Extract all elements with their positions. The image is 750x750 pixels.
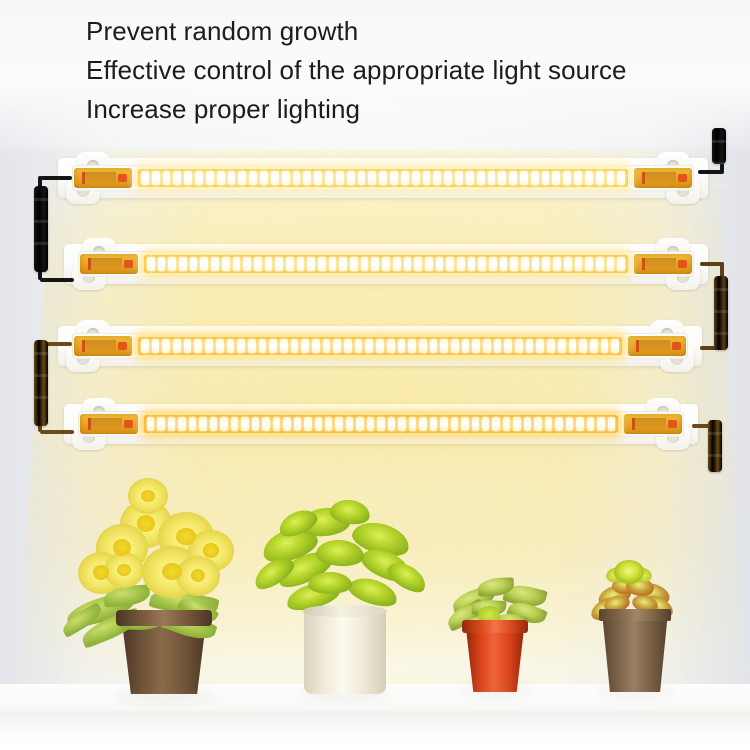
led-chip: [524, 417, 531, 431]
led-chip: [199, 417, 206, 431]
led-chip: [367, 417, 374, 431]
flower-center: [141, 490, 155, 502]
flower-center: [137, 515, 155, 531]
led-chip: [333, 339, 341, 353]
led-chip: [430, 417, 437, 431]
led-chip: [412, 171, 420, 185]
led-chip: [262, 417, 269, 431]
led-chip: [294, 417, 301, 431]
led-chip: [531, 171, 539, 185]
flower-center: [93, 565, 109, 579]
led-chip: [414, 257, 422, 271]
plant-yellow-flowers-pot-rim: [116, 610, 212, 626]
led-chip: [468, 257, 476, 271]
led-chip: [576, 417, 583, 431]
driver-indicator-dot: [124, 260, 133, 268]
led-chip: [194, 339, 202, 353]
led-chip: [409, 417, 416, 431]
led-chip: [377, 417, 384, 431]
led-chip: [451, 339, 459, 353]
led-chip: [314, 171, 322, 185]
plant-green-fern-pot-rim: [303, 605, 387, 617]
cable-left-top: [40, 176, 72, 180]
led-chip: [178, 417, 185, 431]
led-chip: [489, 257, 497, 271]
led-chip: [252, 417, 259, 431]
driver-print: [632, 418, 666, 430]
plant-shadow: [458, 684, 534, 698]
led-chip: [254, 257, 262, 271]
led-chip: [228, 171, 236, 185]
led-chip: [368, 171, 376, 185]
led-chip: [500, 257, 508, 271]
flower-center: [162, 563, 182, 581]
led-chip: [388, 417, 395, 431]
led-chip: [190, 257, 198, 271]
led-chip: [211, 257, 219, 271]
connector-right-bottom: [708, 420, 722, 472]
driver-module-left: [80, 254, 138, 274]
driver-module-right: [628, 336, 686, 356]
led-chip: [488, 171, 496, 185]
led-chip: [608, 417, 615, 431]
connector-band: [34, 374, 48, 377]
led-chip: [574, 171, 582, 185]
led-chip: [503, 417, 510, 431]
led-chip: [566, 417, 573, 431]
driver-print: [88, 258, 122, 270]
headline-2: Effective control of the appropriate lig…: [86, 51, 746, 90]
led-chip: [365, 339, 373, 353]
led-chip: [227, 339, 235, 353]
led-chip: [436, 257, 444, 271]
led-chip: [430, 339, 438, 353]
led-chip: [189, 417, 196, 431]
led-chip-strip: [138, 169, 628, 187]
led-chip: [515, 339, 523, 353]
led-chip: [260, 171, 268, 185]
headline-group: Prevent random growth Effective control …: [86, 12, 746, 129]
led-chip: [173, 171, 181, 185]
led-chip: [179, 257, 187, 271]
led-chip: [371, 257, 379, 271]
led-chip: [617, 171, 625, 185]
table-front: [0, 714, 750, 750]
led-chip: [425, 257, 433, 271]
led-chip: [243, 257, 251, 271]
led-chip: [440, 339, 448, 353]
led-chip: [504, 339, 512, 353]
cable-left-mid: [40, 278, 74, 282]
plant-green-fern-pot: [304, 608, 386, 694]
connector-band: [714, 288, 728, 291]
led-chip: [259, 339, 267, 353]
led-chip: [393, 257, 401, 271]
led-chip: [513, 417, 520, 431]
led-chip: [472, 417, 479, 431]
led-chip: [339, 257, 347, 271]
led-chip: [611, 339, 619, 353]
led-chip: [168, 417, 175, 431]
led-chip: [596, 257, 604, 271]
driver-print: [642, 258, 676, 270]
connector-band: [34, 352, 48, 355]
led-chip: [466, 171, 474, 185]
led-chip: [147, 417, 154, 431]
led-chip: [200, 257, 208, 271]
led-chip: [269, 339, 277, 353]
led-chip: [147, 257, 155, 271]
connector-band: [34, 198, 48, 201]
led-chip: [152, 171, 160, 185]
connector-right-middle: [714, 276, 728, 350]
led-chip: [350, 257, 358, 271]
led-chip: [206, 171, 214, 185]
led-chip: [293, 171, 301, 185]
led-chip: [238, 171, 246, 185]
led-chip: [283, 417, 290, 431]
led-chip: [607, 171, 615, 185]
led-chip: [141, 171, 149, 185]
led-chip: [545, 417, 552, 431]
led-chip: [521, 257, 529, 271]
led-chip: [329, 257, 337, 271]
led-chip: [323, 339, 331, 353]
led-chip: [542, 257, 550, 271]
driver-indicator-dot: [124, 420, 133, 428]
led-chip: [510, 257, 518, 271]
connector-right-top: [712, 128, 726, 164]
led-chip: [307, 257, 315, 271]
led-chip: [162, 339, 170, 353]
led-chip: [173, 339, 181, 353]
led-chip: [304, 417, 311, 431]
led-chip: [520, 171, 528, 185]
led-chip: [286, 257, 294, 271]
led-chip: [585, 257, 593, 271]
led-chip: [455, 171, 463, 185]
led-chip: [141, 339, 149, 353]
driver-indicator-dot: [668, 420, 677, 428]
led-chip: [555, 417, 562, 431]
led-chip: [280, 339, 288, 353]
led-chip: [217, 171, 225, 185]
led-chip: [492, 417, 499, 431]
led-chip: [617, 257, 625, 271]
led-chip: [419, 339, 427, 353]
led-chip: [205, 339, 213, 353]
led-chip: [237, 339, 245, 353]
driver-print: [82, 172, 116, 184]
led-chip: [390, 171, 398, 185]
connector-band: [34, 242, 48, 245]
led-chip: [303, 171, 311, 185]
driver-indicator-dot: [678, 174, 687, 182]
led-chip: [158, 257, 166, 271]
led-chip: [184, 171, 192, 185]
connector-band: [708, 476, 722, 479]
led-chip: [163, 171, 171, 185]
led-chip: [564, 257, 572, 271]
fern-frond: [308, 572, 352, 594]
headline-3: Increase proper lighting: [86, 90, 746, 129]
led-chip: [461, 417, 468, 431]
led-chip: [312, 339, 320, 353]
led-chip: [408, 339, 416, 353]
led-chip: [446, 257, 454, 271]
led-chip: [401, 171, 409, 185]
led-chip: [547, 339, 555, 353]
led-chip: [457, 257, 465, 271]
plant-small-terracotta-pot-rim: [462, 620, 528, 633]
led-chip: [355, 339, 363, 353]
flower-center: [176, 528, 195, 545]
led-chip: [265, 257, 273, 271]
led-chip: [590, 339, 598, 353]
led-chip: [423, 171, 431, 185]
driver-module-left: [74, 168, 132, 188]
led-chip: [382, 257, 390, 271]
led-chip: [336, 171, 344, 185]
led-chip-strip: [144, 415, 618, 433]
led-bar-1: [58, 152, 708, 204]
connector-band: [34, 220, 48, 223]
led-chip: [597, 417, 604, 431]
connector-band: [34, 396, 48, 399]
led-chip: [440, 417, 447, 431]
connector-band: [712, 162, 726, 165]
driver-module-right: [624, 414, 682, 434]
flower-center: [113, 539, 131, 555]
led-chip: [315, 417, 322, 431]
led-chip: [297, 257, 305, 271]
led-chip: [168, 257, 176, 271]
led-bar-3: [58, 320, 702, 372]
led-chip: [361, 257, 369, 271]
led-chip: [398, 417, 405, 431]
led-chip: [216, 339, 224, 353]
connector-band: [708, 454, 722, 457]
led-chip: [210, 417, 217, 431]
led-chip: [477, 171, 485, 185]
led-chip: [346, 417, 353, 431]
led-chip: [587, 417, 594, 431]
led-chip: [482, 417, 489, 431]
led-chip: [184, 339, 192, 353]
led-chip: [347, 171, 355, 185]
driver-module-left: [80, 414, 138, 434]
led-chip: [335, 417, 342, 431]
connector-band: [708, 432, 722, 435]
product-image-scene: Prevent random growth Effective control …: [0, 0, 750, 750]
led-chip: [157, 417, 164, 431]
led-chip: [509, 171, 517, 185]
led-bar-2: [64, 238, 708, 290]
led-chip: [249, 171, 257, 185]
led-chip: [379, 171, 387, 185]
led-chip: [534, 417, 541, 431]
cable-left-lower-mid: [40, 430, 74, 434]
led-chip: [596, 171, 604, 185]
led-chip: [558, 339, 566, 353]
led-chip: [404, 257, 412, 271]
led-chip-strip: [144, 255, 628, 273]
succulent-rosette-center: [614, 560, 644, 584]
led-chip: [291, 339, 299, 353]
led-chip: [494, 339, 502, 353]
led-chip: [607, 257, 615, 271]
led-chip: [536, 339, 544, 353]
led-chip: [356, 417, 363, 431]
led-chip: [444, 171, 452, 185]
led-chip: [273, 417, 280, 431]
driver-indicator-dot: [118, 342, 127, 350]
led-chip: [152, 339, 160, 353]
led-chip: [233, 257, 241, 271]
led-chip: [478, 257, 486, 271]
led-chip: [419, 417, 426, 431]
plant-shadow: [112, 688, 218, 704]
led-chip: [585, 171, 593, 185]
connector-band: [714, 310, 728, 313]
flower-center: [203, 543, 219, 557]
led-chip: [376, 339, 384, 353]
driver-print: [642, 172, 676, 184]
led-chip: [282, 171, 290, 185]
led-chip: [601, 339, 609, 353]
led-chip: [451, 417, 458, 431]
driver-indicator-dot: [672, 342, 681, 350]
driver-print: [88, 418, 122, 430]
plant-succulent-pot-rim: [599, 609, 671, 621]
driver-print: [82, 340, 116, 352]
driver-indicator-dot: [678, 260, 687, 268]
led-chip: [542, 171, 550, 185]
led-chip: [433, 171, 441, 185]
led-chip: [483, 339, 491, 353]
connector-left-lower: [34, 340, 48, 426]
connector-band: [714, 332, 728, 335]
led-chip: [387, 339, 395, 353]
led-chip: [325, 417, 332, 431]
led-chip: [271, 171, 279, 185]
led-chip: [526, 339, 534, 353]
led-chip: [241, 417, 248, 431]
led-chip: [563, 171, 571, 185]
led-chip: [195, 171, 203, 185]
led-chip: [579, 339, 587, 353]
driver-module-right: [634, 254, 692, 274]
plant-succulent-pot: [602, 612, 668, 692]
connector-band: [712, 184, 726, 187]
led-chip: [344, 339, 352, 353]
led-chip: [220, 417, 227, 431]
driver-print: [636, 340, 670, 352]
led-chip: [472, 339, 480, 353]
led-chip: [301, 339, 309, 353]
led-chip: [231, 417, 238, 431]
led-chip: [575, 257, 583, 271]
led-chip: [325, 171, 333, 185]
connector-left-upper: [34, 186, 48, 272]
led-chip: [398, 339, 406, 353]
driver-module-left: [74, 336, 132, 356]
led-chip: [553, 257, 561, 271]
connector-band: [712, 140, 726, 143]
headline-1: Prevent random growth: [86, 12, 746, 51]
led-chip: [248, 339, 256, 353]
led-chip: [222, 257, 230, 271]
flower-center: [117, 564, 131, 576]
led-chip: [569, 339, 577, 353]
led-chip: [462, 339, 470, 353]
led-chip: [532, 257, 540, 271]
led-chip: [275, 257, 283, 271]
driver-module-right: [634, 168, 692, 188]
led-chip: [552, 171, 560, 185]
led-bar-4: [64, 398, 698, 450]
led-chip: [318, 257, 326, 271]
driver-indicator-dot: [118, 174, 127, 182]
led-chip-strip: [138, 337, 622, 355]
led-chip: [498, 171, 506, 185]
led-chip: [358, 171, 366, 185]
flower-center: [191, 569, 206, 583]
